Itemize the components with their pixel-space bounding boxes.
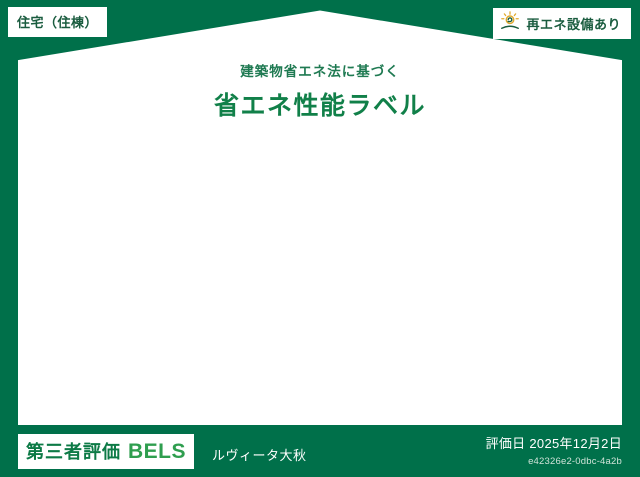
evaluation-date: 評価日 2025年12月2日 [486, 433, 622, 452]
bels-badge: 第三者評価 BELS [18, 434, 194, 469]
label-card: 建築物省エネ法に基づく 省エネ性能ラベル [18, 8, 622, 425]
page-title: 省エネ性能ラベル [18, 86, 622, 122]
title-subtitle: 建築物省エネ法に基づく [18, 60, 622, 80]
renewable-energy-badge: 再エネ設備あり [493, 8, 631, 39]
building-type-tag: 住宅（住棟） [8, 7, 107, 37]
solar-sun-icon [499, 11, 521, 36]
title-block: 建築物省エネ法に基づく 省エネ性能ラベル [18, 60, 622, 122]
evaluation-id: e42326e2-0dbc-4a2b [486, 456, 622, 467]
energy-label-root: 住宅（住棟） 再エネ設備あり 建築物省エネ法に基づく 省エネ性能ラベル [0, 0, 640, 477]
bels-jp-label: 第三者評価 [26, 438, 121, 464]
footer: 第三者評価 BELS ルヴィータ大秋 評価日 2025年12月2日 e42326… [0, 425, 640, 477]
bels-en-label: BELS [128, 440, 186, 464]
building-name: ルヴィータ大秋 [212, 445, 307, 464]
renewable-energy-badge-label: 再エネ設備あり [526, 14, 621, 33]
evaluation-info: 評価日 2025年12月2日 e42326e2-0dbc-4a2b [486, 433, 622, 467]
